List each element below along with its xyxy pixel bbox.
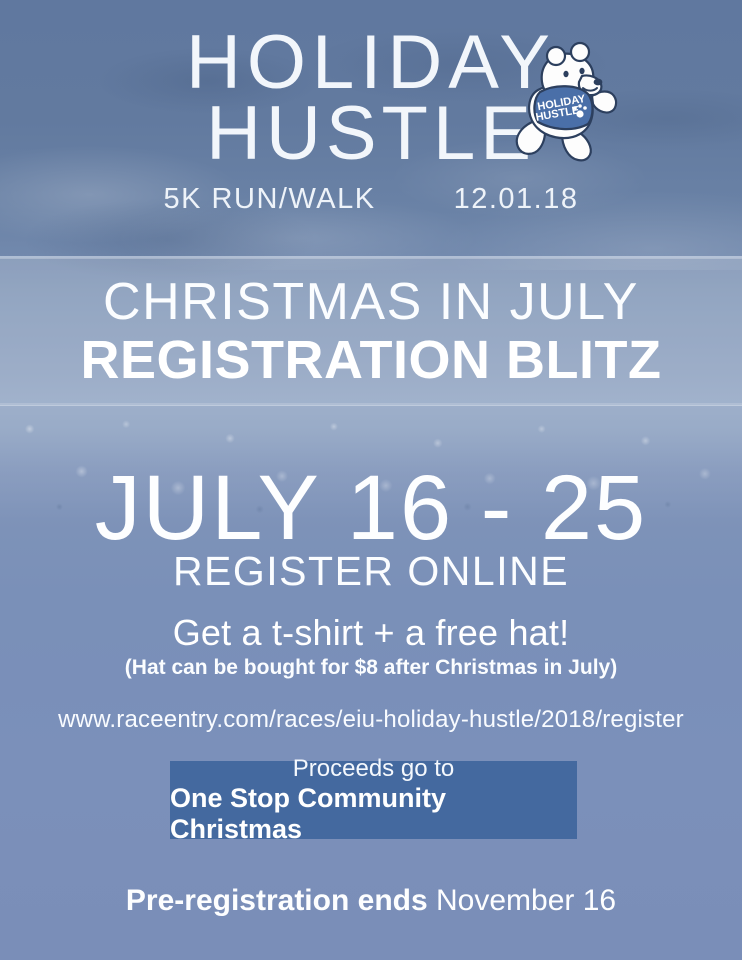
race-type-label: 5K RUN/WALK: [164, 183, 376, 216]
polar-bear-mascot-icon: HOLIDAY HUSTLE: [504, 34, 624, 169]
banner-headline-line1: CHRISTMAS IN JULY: [103, 275, 639, 330]
registration-url[interactable]: www.raceentry.com/races/eiu-holiday-hust…: [0, 706, 742, 734]
offer-note: (Hat can be bought for $8 after Christma…: [0, 656, 742, 680]
proceeds-box: Proceeds go to One Stop Community Christ…: [170, 761, 577, 839]
offer-headline: Get a t-shirt + a free hat!: [0, 612, 742, 654]
register-online-label: REGISTER ONLINE: [0, 548, 742, 595]
event-wordmark: HOLIDAY HUSTLE: [186, 28, 556, 169]
race-date-label: 12.01.18: [454, 183, 579, 216]
prereg-label: Pre-registration ends: [126, 884, 428, 917]
header-subline: 5K RUN/WALK 12.01.18: [0, 183, 742, 216]
banner-headline-line2: REGISTRATION BLITZ: [81, 332, 662, 389]
promo-dates: JULY 16 - 25: [0, 462, 742, 554]
proceeds-beneficiary: One Stop Community Christmas: [170, 783, 577, 845]
poster-header: HOLIDAY HUSTLE: [0, 28, 742, 216]
event-name-line1: HOLIDAY: [186, 28, 556, 99]
proceeds-intro: Proceeds go to: [293, 755, 454, 783]
prereg-date: November 16: [436, 884, 616, 917]
prereg-deadline: Pre-registration ends November 16: [0, 884, 742, 918]
event-name-line2: HUSTLE: [186, 99, 556, 170]
holiday-hustle-poster: HOLIDAY HUSTLE: [0, 0, 742, 960]
headline-banner: CHRISTMAS IN JULY REGISTRATION BLITZ: [0, 258, 742, 406]
